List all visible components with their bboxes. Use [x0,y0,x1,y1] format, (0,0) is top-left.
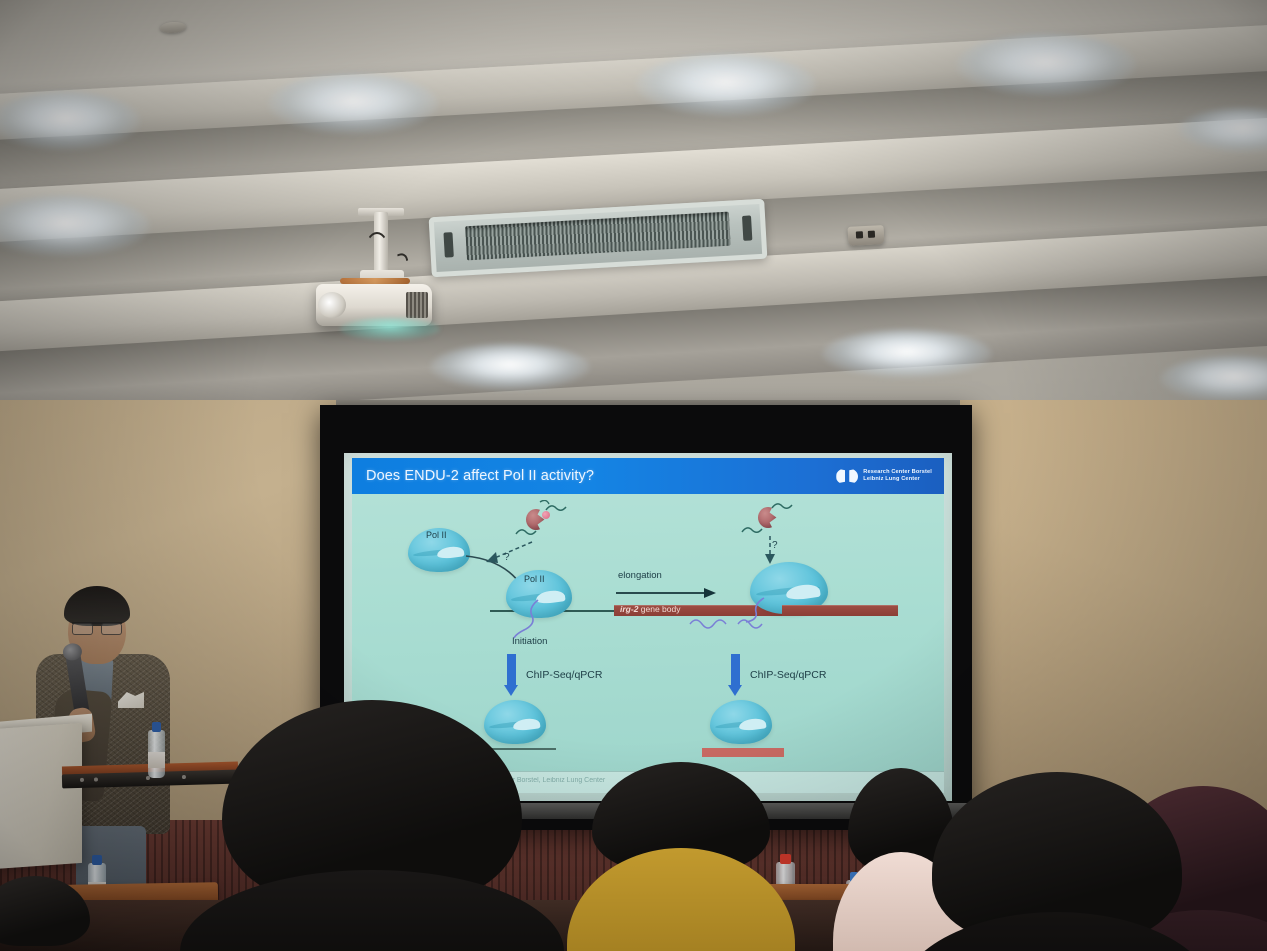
lecture-hall-scene: Does ENDU-2 affect Pol II activity? Rese… [0,0,1267,951]
slide-title-bar: Does ENDU-2 affect Pol II activity? Rese… [352,458,944,494]
question-mark-right: ? [772,540,778,551]
assay-label-left: ChIP-Seq/qPCR [526,669,602,681]
audience-member-far-right [932,772,1182,951]
smoke-detector [160,21,187,34]
projector-lens [318,292,346,318]
logo-line-1: Research Center Borstel [863,469,932,476]
elongation-label: elongation [618,570,662,581]
pol-ii-initiation-label: Pol II [524,574,545,584]
eyeglasses [72,622,122,632]
nascent-rna-initiation [510,598,560,640]
result-bar-right [702,748,784,757]
chip-arrow-right [730,654,741,696]
nascent-rna-elongation [688,594,778,636]
question-mark-left: ? [504,552,510,563]
audience-member-center [592,762,770,951]
ceiling-mounted-projector [312,212,452,332]
ceiling [0,0,1267,410]
gene-body-bar-downstream [782,605,898,616]
pol-ii-free-label: Pol II [426,530,447,540]
chip-arrow-left [506,654,517,696]
gene-body-suffix: gene body [638,604,680,614]
ceiling-speaker [848,225,885,246]
logo-line-2: Leibniz Lung Center [863,476,932,483]
initiation-label: Initiation [512,636,547,647]
gene-name-italic: irg-2 [620,604,638,614]
assay-label-right: ChIP-Seq/qPCR [750,669,826,681]
white-lectern [0,723,82,869]
audience-member-bottom-left [0,876,90,951]
gene-body-label: irg-2 gene body [620,604,681,614]
pol-ii-result-right [710,700,772,744]
audience-member-front-left [222,700,522,951]
water-bottle-podium [148,722,165,778]
borstel-bracket-logo-icon [836,469,858,484]
institution-logo: Research Center Borstel Leibniz Lung Cen… [836,469,932,484]
slide-title: Does ENDU-2 affect Pol II activity? [366,468,594,484]
